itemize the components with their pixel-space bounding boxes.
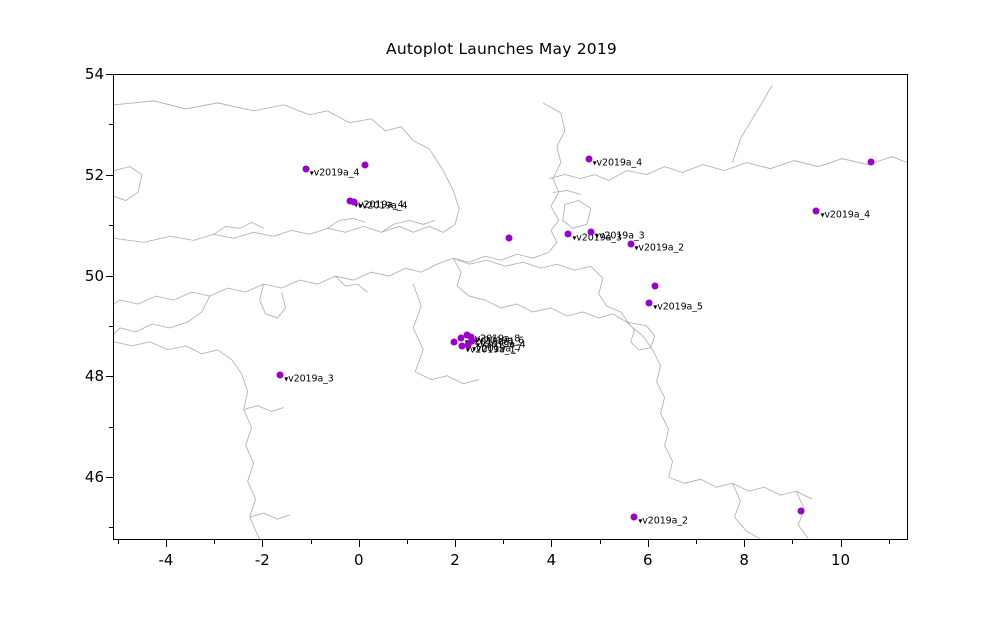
y-axis-major-tick: [106, 276, 113, 277]
label-caret-icon: ▾: [466, 346, 470, 355]
x-axis-minor-tick: [118, 540, 119, 544]
x-axis-major-tick: [648, 540, 649, 547]
scatter-marker: [585, 156, 592, 163]
y-axis-minor-tick: [109, 527, 113, 528]
scatter-point-label: ▾v2019a_3: [284, 373, 334, 384]
x-axis-tick-label: -2: [255, 551, 270, 569]
scatter-point-label: ▾v2019a_5: [653, 301, 703, 312]
y-axis-tick-label: 52: [62, 166, 104, 184]
label-caret-icon: ▾: [820, 211, 824, 220]
x-axis-major-tick: [359, 540, 360, 547]
scatter-point-label: ▾v2019a_1: [466, 345, 516, 356]
x-axis-minor-tick: [214, 540, 215, 544]
scatter-point-label: ▾v2019a_4: [358, 201, 408, 212]
x-axis-minor-tick: [600, 540, 601, 544]
scatter-marker: [627, 240, 634, 247]
x-axis-minor-tick: [503, 540, 504, 544]
scatter-marker: [277, 371, 284, 378]
scatter-marker: [565, 230, 572, 237]
label-caret-icon: ▾: [653, 302, 657, 311]
x-axis-tick-label: 4: [547, 551, 557, 569]
scatter-marker: [631, 514, 638, 521]
scatter-point-label: ▾v2019a_3: [595, 231, 645, 242]
y-axis-major-tick: [106, 175, 113, 176]
scatter-marker: [506, 235, 513, 242]
y-axis-minor-tick: [109, 225, 113, 226]
scatter-point-label: ▾v2019a_4: [593, 158, 643, 169]
x-axis-tick-label: 6: [643, 551, 653, 569]
label-caret-icon: ▾: [593, 159, 597, 168]
x-axis-tick-label: 0: [354, 551, 364, 569]
scatter-marker: [646, 299, 653, 306]
x-axis-tick-label: 10: [831, 551, 850, 569]
figure-canvas: Autoplot Launches May 2019: [0, 0, 1003, 633]
y-axis-major-tick: [106, 376, 113, 377]
label-caret-icon: ▾: [310, 169, 314, 178]
x-axis-tick-label: -4: [159, 551, 174, 569]
label-caret-icon: ▾: [358, 202, 362, 211]
label-caret-icon: ▾: [572, 233, 576, 242]
y-axis-minor-tick: [109, 124, 113, 125]
label-caret-icon: ▾: [284, 374, 288, 383]
scatter-point-label: ▾v2019a_2: [635, 242, 685, 253]
y-axis-major-tick: [106, 74, 113, 75]
chart-title: Autoplot Launches May 2019: [0, 40, 1003, 58]
x-axis-major-tick: [262, 540, 263, 547]
y-axis-tick-label: 48: [62, 367, 104, 385]
x-axis-major-tick: [166, 540, 167, 547]
scatter-marker: [797, 507, 804, 514]
y-axis-tick-label: 50: [62, 267, 104, 285]
label-caret-icon: ▾: [635, 243, 639, 252]
plot-area: ▾v2019a_4▾v2019a_4▾v2019a_4▾v2019a_4▾v20…: [113, 74, 908, 540]
x-axis-major-tick: [841, 540, 842, 547]
label-caret-icon: ▾: [638, 517, 642, 526]
scatter-marker: [361, 162, 368, 169]
x-axis-minor-tick: [407, 540, 408, 544]
scatter-marker: [652, 282, 659, 289]
x-axis-major-tick: [551, 540, 552, 547]
x-axis-tick-label: 2: [450, 551, 460, 569]
x-axis-major-tick: [744, 540, 745, 547]
x-axis-tick-label: 8: [739, 551, 749, 569]
scatter-marker: [450, 339, 457, 346]
y-axis-major-tick: [106, 477, 113, 478]
x-axis-minor-tick: [311, 540, 312, 544]
x-axis-major-tick: [455, 540, 456, 547]
scatter-marker: [302, 166, 309, 173]
scatter-point-label: ▾v2019a_4: [820, 210, 870, 221]
label-caret-icon: ▾: [595, 232, 599, 241]
x-axis-minor-tick: [792, 540, 793, 544]
scatter-points-layer: ▾v2019a_4▾v2019a_4▾v2019a_4▾v2019a_4▾v20…: [114, 75, 907, 539]
y-axis-minor-tick: [109, 427, 113, 428]
scatter-marker: [868, 159, 875, 166]
x-axis-minor-tick: [889, 540, 890, 544]
scatter-point-label: ▾v2019a_2: [638, 516, 688, 527]
x-axis-minor-tick: [696, 540, 697, 544]
scatter-point-label: ▾v2019a_4: [310, 168, 360, 179]
scatter-marker: [813, 208, 820, 215]
scatter-marker: [350, 199, 357, 206]
y-axis-tick-label: 46: [62, 468, 104, 486]
y-axis-tick-label: 54: [62, 65, 104, 83]
scatter-marker: [588, 229, 595, 236]
y-axis-minor-tick: [109, 326, 113, 327]
scatter-marker: [458, 343, 465, 350]
